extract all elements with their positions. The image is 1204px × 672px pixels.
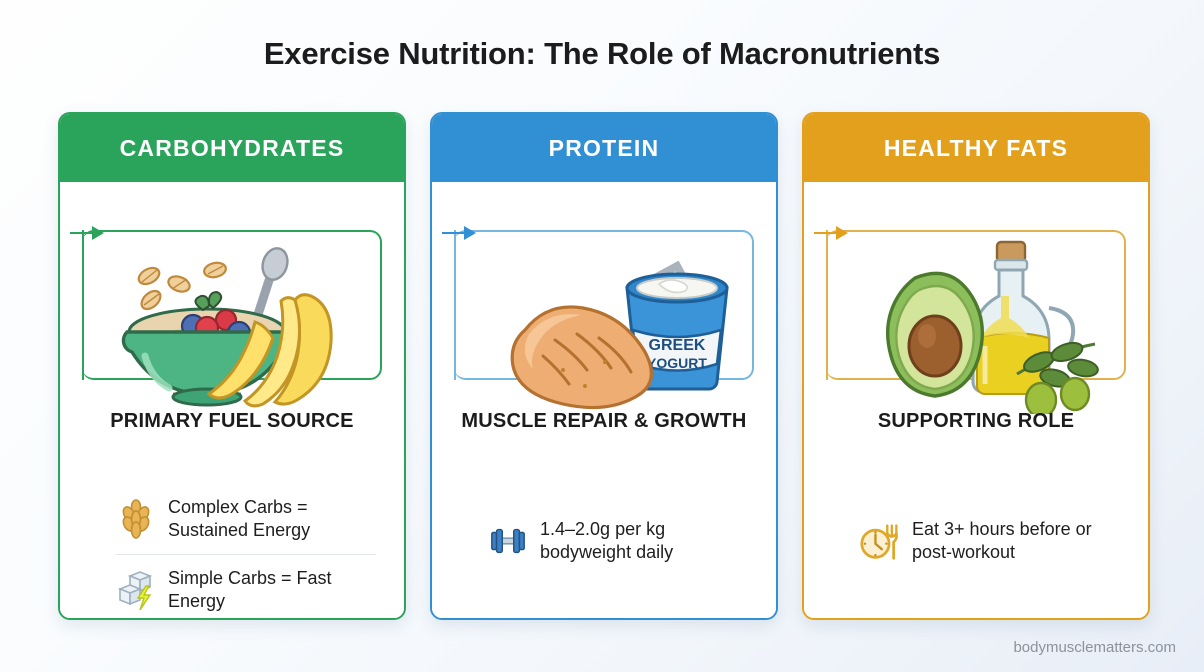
dumbbell-icon — [488, 519, 528, 563]
role-label-carbohydrates: PRIMARY FUEL SOURCE — [60, 410, 404, 433]
bullet-text: Simple Carbs = Fast Energy — [168, 567, 386, 613]
card-body-carbohydrates: PRIMARY FUEL SOURCE — [60, 182, 404, 618]
card-healthy-fats: HEALTHY FATS — [802, 112, 1150, 620]
card-header-carbohydrates: CARBOHYDRATES — [60, 114, 404, 182]
infographic-page: Exercise Nutrition: The Role of Macronut… — [0, 0, 1204, 672]
bullet-text: 1.4–2.0g per kg bodyweight daily — [540, 518, 758, 564]
bullet-item: 1.4–2.0g per kg bodyweight daily — [432, 510, 776, 572]
card-body-healthy-fats: SUPPORTING ROLE — [804, 182, 1148, 618]
bullet-item: Eat 3+ hours before or post-workout — [804, 510, 1148, 572]
clock-fork-icon — [860, 519, 900, 563]
svg-text:GREEK: GREEK — [649, 337, 706, 354]
illustration-carbohydrates — [60, 234, 404, 414]
sugar-cubes-lightning-icon — [116, 568, 156, 612]
illustration-protein: GREEK YOGURT — [432, 234, 776, 414]
svg-text:YOGURT: YOGURT — [647, 355, 707, 371]
page-title: Exercise Nutrition: The Role of Macronut… — [0, 36, 1204, 72]
card-header-protein: PROTEIN — [432, 114, 776, 182]
watermark: bodymusclematters.com — [1013, 639, 1176, 656]
bullet-list-healthy-fats: Eat 3+ hours before or post-workout — [804, 488, 1148, 610]
macronutrient-cards: CARBOHYDRATES — [58, 112, 1150, 620]
bullet-item: Complex Carbs = Sustained Energy — [60, 488, 404, 550]
bullet-text: Complex Carbs = Sustained Energy — [168, 496, 386, 542]
bullet-connector-protein — [446, 496, 447, 497]
role-label-healthy-fats: SUPPORTING ROLE — [804, 410, 1148, 433]
bullet-divider — [116, 554, 376, 555]
card-body-protein: GREEK YOGURT — [432, 182, 776, 618]
card-carbohydrates: CARBOHYDRATES — [58, 112, 406, 620]
illustration-healthy-fats — [804, 234, 1148, 414]
wheat-icon — [116, 497, 156, 541]
bullet-item: Simple Carbs = Fast Energy — [60, 559, 404, 620]
card-header-healthy-fats: HEALTHY FATS — [804, 114, 1148, 182]
card-protein: PROTEIN — [430, 112, 778, 620]
role-label-protein: MUSCLE REPAIR & GROWTH — [432, 410, 776, 433]
bullet-list-protein: 1.4–2.0g per kg bodyweight daily — [432, 488, 776, 610]
bullet-connector-fats — [818, 496, 819, 497]
bullet-text: Eat 3+ hours before or post-workout — [912, 518, 1130, 564]
bullet-list-carbohydrates: Complex Carbs = Sustained Energy — [60, 488, 404, 610]
